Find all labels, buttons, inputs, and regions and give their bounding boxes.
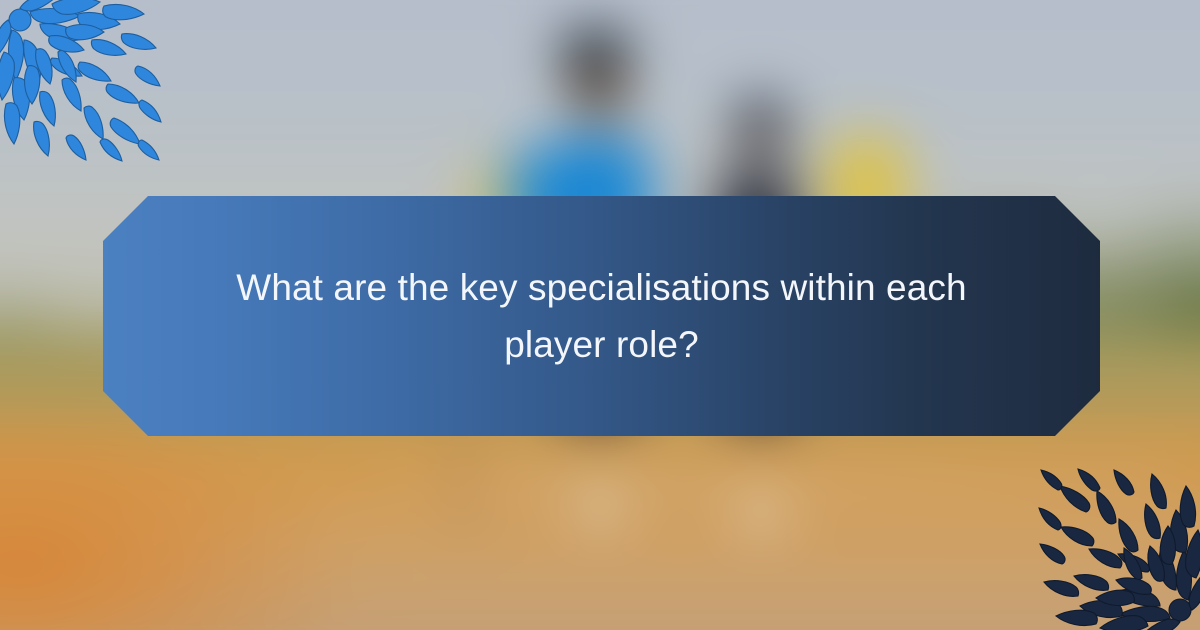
question-card-canvas: What are the key specialisations within …	[0, 0, 1200, 630]
photo-pitch-line	[329, 466, 1170, 494]
photo-player-primary-shoe	[577, 499, 624, 518]
photo-stump	[459, 435, 466, 530]
question-banner: What are the key specialisations within …	[103, 196, 1100, 436]
photo-player-secondary-cap	[734, 100, 785, 121]
photo-player-primary-face	[578, 78, 620, 123]
photo-player-primary-cap	[562, 29, 628, 57]
photo-player-secondary-shoe	[738, 503, 783, 522]
question-text: What are the key specialisations within …	[195, 259, 1008, 373]
